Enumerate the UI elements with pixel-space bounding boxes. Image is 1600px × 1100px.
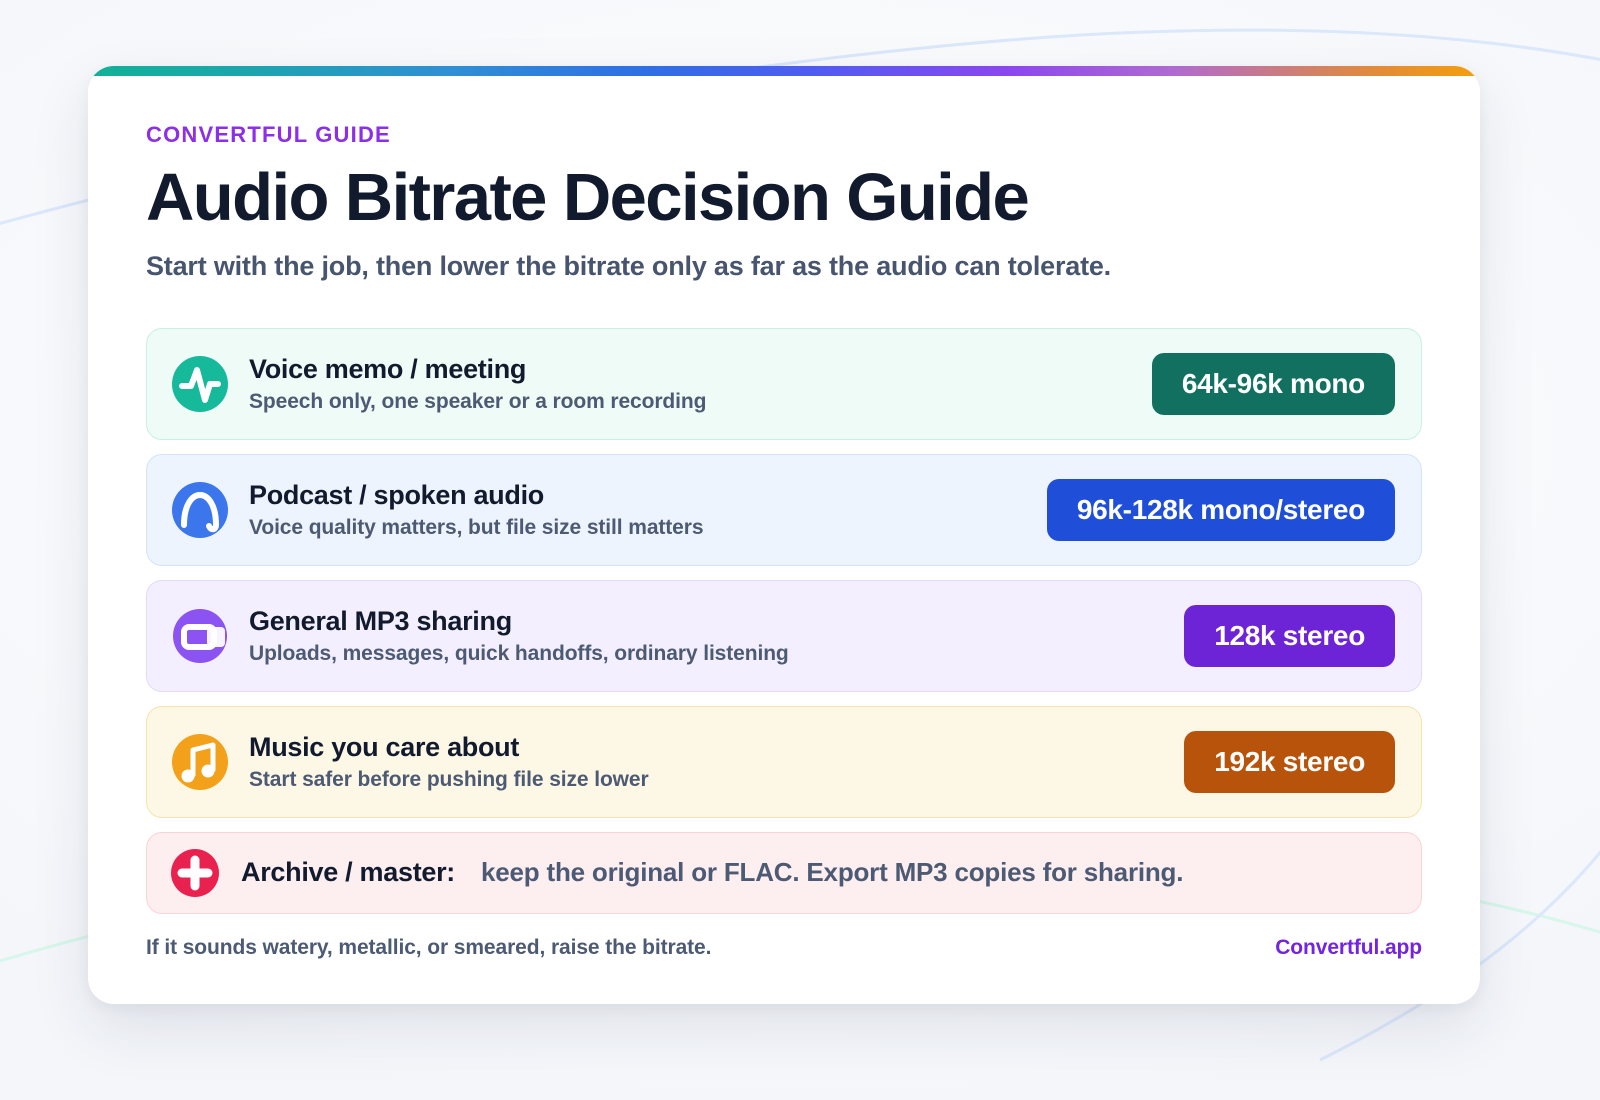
row-title: General MP3 sharing (249, 606, 1184, 637)
share-file-icon (169, 605, 231, 667)
footer-note: If it sounds watery, metallic, or smeare… (146, 936, 711, 960)
archive-body: keep the original or FLAC. Export MP3 co… (481, 857, 1183, 888)
bitrate-row-list: Voice memo / meeting Speech only, one sp… (146, 328, 1422, 818)
page-title: Audio Bitrate Decision Guide (146, 163, 1422, 233)
page-subtitle: Start with the job, then lower the bitra… (146, 251, 1422, 282)
bitrate-row-music[interactable]: Music you care about Start safer before … (146, 706, 1422, 818)
bitrate-badge[interactable]: 192k stereo (1184, 731, 1395, 793)
podcast-arch-icon (169, 479, 231, 541)
row-subtitle: Voice quality matters, but file size sti… (249, 516, 1047, 540)
row-subtitle: Start safer before pushing file size low… (249, 768, 1184, 792)
row-text-block: Podcast / spoken audio Voice quality mat… (249, 480, 1047, 540)
bitrate-badge[interactable]: 64k-96k mono (1152, 353, 1395, 415)
row-title: Music you care about (249, 732, 1184, 763)
plus-circle-icon (169, 847, 221, 899)
row-subtitle: Uploads, messages, quick handoffs, ordin… (249, 642, 1184, 666)
row-title: Podcast / spoken audio (249, 480, 1047, 511)
row-text-block: Music you care about Start safer before … (249, 732, 1184, 792)
bitrate-row-podcast[interactable]: Podcast / spoken audio Voice quality mat… (146, 454, 1422, 566)
bitrate-badge[interactable]: 96k-128k mono/stereo (1047, 479, 1395, 541)
eyebrow-label: CONVERTFUL GUIDE (146, 124, 1422, 146)
music-note-icon (169, 731, 231, 793)
row-text-block: General MP3 sharing Uploads, messages, q… (249, 606, 1184, 666)
row-subtitle: Speech only, one speaker or a room recor… (249, 390, 1152, 414)
bitrate-row-general-mp3[interactable]: General MP3 sharing Uploads, messages, q… (146, 580, 1422, 692)
guide-card: CONVERTFUL GUIDE Audio Bitrate Decision … (88, 66, 1480, 1004)
bitrate-row-voice-memo[interactable]: Voice memo / meeting Speech only, one sp… (146, 328, 1422, 440)
row-title: Voice memo / meeting (249, 354, 1152, 385)
row-text-block: Voice memo / meeting Speech only, one sp… (249, 354, 1152, 414)
footer-link-convertful[interactable]: Convertful.app (1275, 936, 1422, 960)
card-footer: If it sounds watery, metallic, or smeare… (146, 936, 1422, 960)
bitrate-badge[interactable]: 128k stereo (1184, 605, 1395, 667)
gradient-accent-bar (88, 66, 1480, 76)
waveform-icon (169, 353, 231, 415)
archive-label: Archive / master: (241, 857, 455, 888)
archive-master-row[interactable]: Archive / master: keep the original or F… (146, 832, 1422, 914)
